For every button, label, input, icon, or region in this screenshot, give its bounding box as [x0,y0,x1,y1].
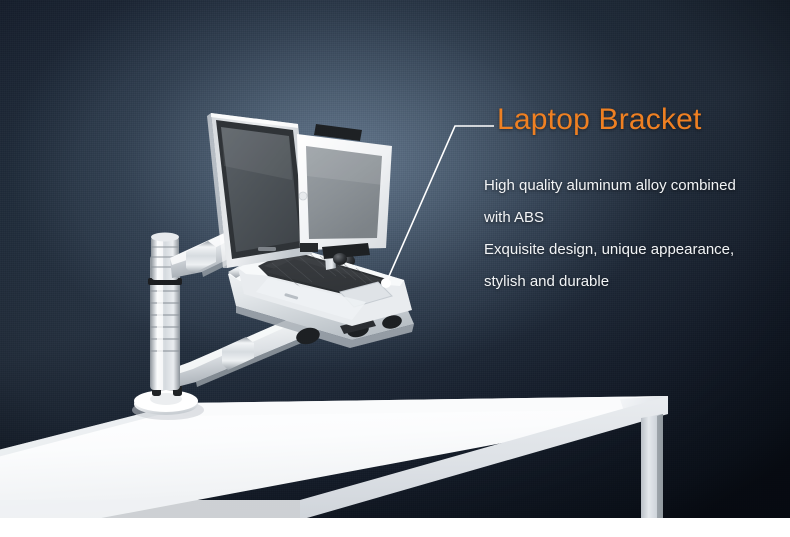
callout-title: Laptop Bracket [497,103,702,137]
callout-line-2: with ABS [484,202,784,234]
product-banner: Laptop Bracket High quality aluminum all… [0,0,790,537]
callout-line-4: stylish and durable [484,266,784,298]
callout-line-3: Exquisite design, unique appearance, [484,234,784,266]
tablet-clamp-bottom-left [300,243,318,252]
pole-top-cap [151,233,179,242]
lower-arm-joint [222,337,254,370]
laptop-brand-mark [258,247,276,251]
tray-accessory-knob [333,253,347,265]
callout-body: High quality aluminum alloy combined wit… [484,170,784,298]
tablet-home-button [299,192,307,200]
bottom-white-strip [0,518,790,537]
callout-line-1: High quality aluminum alloy combined [484,170,784,202]
